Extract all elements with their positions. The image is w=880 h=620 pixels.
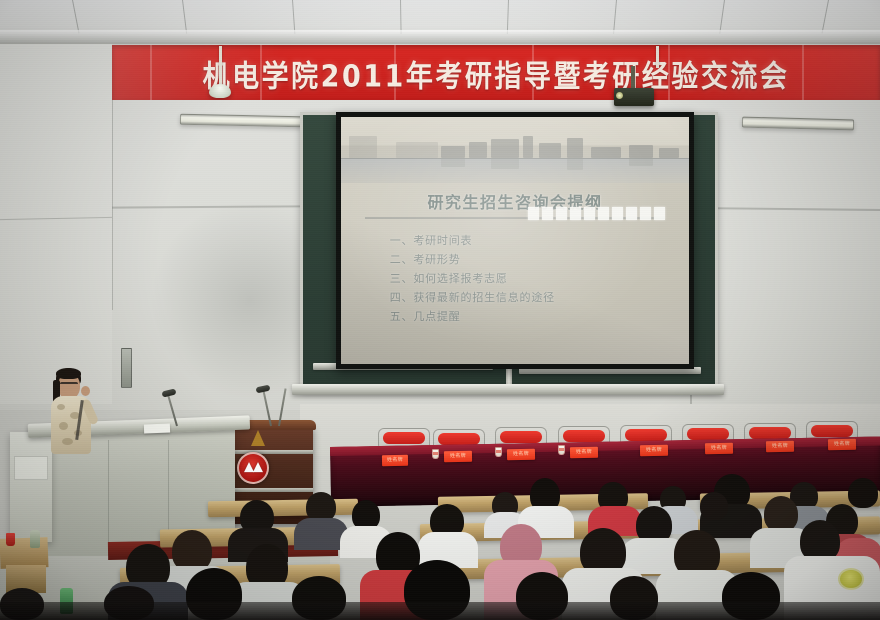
presenter-hand [81, 386, 90, 396]
projection-screen: 研究生招生咨询会提纲 一、考研时间表 二、考研形势 三、如何选择报考志愿 四、获… [336, 112, 694, 369]
wall-switch-box [121, 348, 132, 388]
lecture-hall-photo: 机电学院2011年考研指导暨考研经验交流会 [0, 0, 880, 620]
emblem-glyph: ▲▲ [244, 460, 262, 473]
table-cup [432, 449, 439, 459]
name-card: 姓名牌 [507, 449, 535, 460]
glasses-icon [60, 382, 78, 389]
paper-sheet [144, 424, 170, 434]
name-card: 姓名牌 [382, 455, 408, 466]
audience-head [700, 492, 728, 520]
chalk-tray [292, 384, 724, 395]
projector-lens-icon [616, 92, 623, 99]
name-card: 姓名牌 [570, 447, 598, 458]
slide-outline-list: 一、考研时间表 二、考研形势 三、如何选择报考志愿 四、获得最新的招生信息的途径… [390, 231, 668, 326]
table-cup [495, 447, 502, 457]
red-cup [6, 533, 15, 546]
desk-side-panel [10, 432, 52, 542]
slide-header-photo [341, 117, 689, 183]
table-cup [558, 445, 565, 455]
slide-outline-item: 四、获得最新的招生信息的途径 [390, 288, 668, 307]
pendant-lamp-shade [209, 84, 231, 98]
screen-surface: 研究生招生咨询会提纲 一、考研时间表 二、考研形势 三、如何选择报考志愿 四、获… [341, 117, 689, 364]
name-card: 姓名牌 [705, 443, 733, 454]
slide-decorative-blocks [528, 207, 665, 220]
tshirt-logo-icon [838, 568, 864, 590]
lectern-arrow-emblem-icon [251, 430, 265, 446]
slide-outline-item: 一、考研时间表 [390, 231, 668, 250]
ceiling-edge-trim [0, 30, 880, 45]
slide-outline-item: 二、考研形势 [390, 250, 668, 269]
water-bottle [30, 530, 40, 548]
foreground-shadow [0, 602, 880, 620]
pendant-lamp-rod [219, 46, 222, 86]
audience-head [764, 496, 798, 532]
pendant-lamp-rod [656, 46, 659, 68]
school-emblem-icon: ▲▲ [237, 452, 269, 484]
name-card: 姓名牌 [444, 451, 472, 462]
name-card: 姓名牌 [766, 441, 794, 452]
left-wall-panel [0, 44, 112, 404]
audience-head [848, 478, 878, 508]
wall-seam [112, 100, 113, 310]
slide-outline-item: 三、如何选择报考志愿 [390, 269, 668, 288]
name-card: 姓名牌 [640, 445, 668, 456]
desk-label-plate [14, 456, 48, 480]
slide-outline-item: 五、几点提醒 [390, 307, 668, 326]
projector-mount [631, 66, 635, 90]
name-card: 姓名牌 [828, 439, 856, 450]
